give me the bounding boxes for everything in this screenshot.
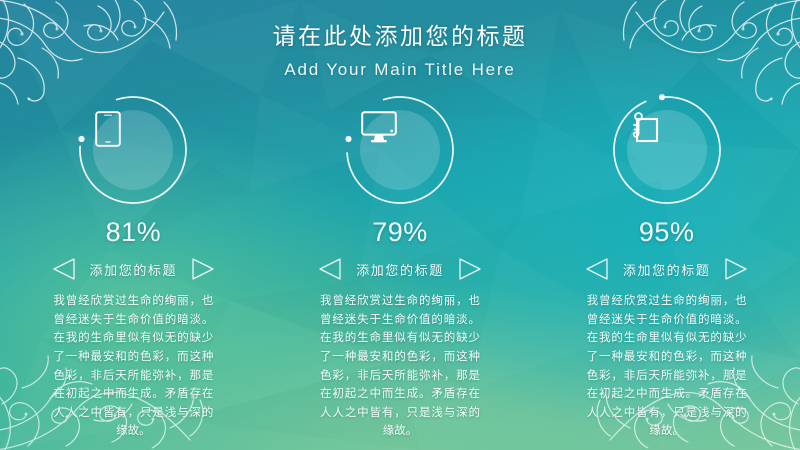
column-body-1: 我曾经欣赏过生命的绚丽，也曾经迷失于生命价值的暗淡。在我的生命里似有似无的缺少了… (53, 291, 213, 440)
document-key-icon (627, 110, 661, 146)
column-body-2: 我曾经欣赏过生命的绚丽，也曾经迷失于生命价值的暗淡。在我的生命里似有似无的缺少了… (320, 291, 480, 440)
column-label-2: 添加您的标题 (356, 260, 444, 279)
label-row-3: 添加您的标题 (584, 256, 750, 282)
stat-column-1[interactable]: 81% 添加您的标题 我曾经欣赏过生命的绚丽，也曾经迷失于生命价值的暗淡。在我的… (0, 92, 267, 440)
progress-ring-2 (342, 92, 458, 208)
left-triangle-icon[interactable] (584, 256, 610, 282)
percent-value-2: 79% (372, 217, 428, 248)
icon-disc-1 (93, 110, 173, 190)
icon-disc-2 (360, 110, 440, 190)
column-body-3: 我曾经欣赏过生命的绚丽，也曾经迷失于生命价值的暗淡。在我的生命里似有似无的缺少了… (587, 291, 747, 440)
column-label-1: 添加您的标题 (90, 260, 178, 279)
desktop-monitor-icon (360, 110, 398, 144)
page-title: 请在此处添加您的标题 (0, 17, 800, 51)
left-triangle-icon[interactable] (51, 256, 77, 282)
left-triangle-icon[interactable] (317, 256, 343, 282)
tablet-icon (93, 110, 123, 148)
right-triangle-icon[interactable] (457, 256, 483, 282)
presentation-slide: 请在此处添加您的标题 Add Your Main Title Here (0, 0, 800, 450)
label-row-2: 添加您的标题 (317, 256, 483, 282)
label-row-1: 添加您的标题 (51, 256, 217, 282)
right-triangle-icon[interactable] (723, 256, 749, 282)
right-triangle-icon[interactable] (190, 256, 216, 282)
slide-title-block: 请在此处添加您的标题 Add Your Main Title Here (0, 17, 800, 80)
column-label-3: 添加您的标题 (623, 260, 711, 279)
stats-columns: 81% 添加您的标题 我曾经欣赏过生命的绚丽，也曾经迷失于生命价值的暗淡。在我的… (0, 92, 800, 440)
stat-column-3[interactable]: 95% 添加您的标题 我曾经欣赏过生命的绚丽，也曾经迷失于生命价值的暗淡。在我的… (533, 92, 800, 440)
percent-value-1: 81% (106, 217, 162, 248)
percent-value-3: 95% (639, 217, 695, 248)
progress-ring-3 (609, 92, 725, 208)
stat-column-2[interactable]: 79% 添加您的标题 我曾经欣赏过生命的绚丽，也曾经迷失于生命价值的暗淡。在我的… (267, 92, 534, 440)
progress-ring-1 (75, 92, 191, 208)
page-subtitle: Add Your Main Title Here (0, 60, 800, 80)
icon-disc-3 (627, 110, 707, 190)
